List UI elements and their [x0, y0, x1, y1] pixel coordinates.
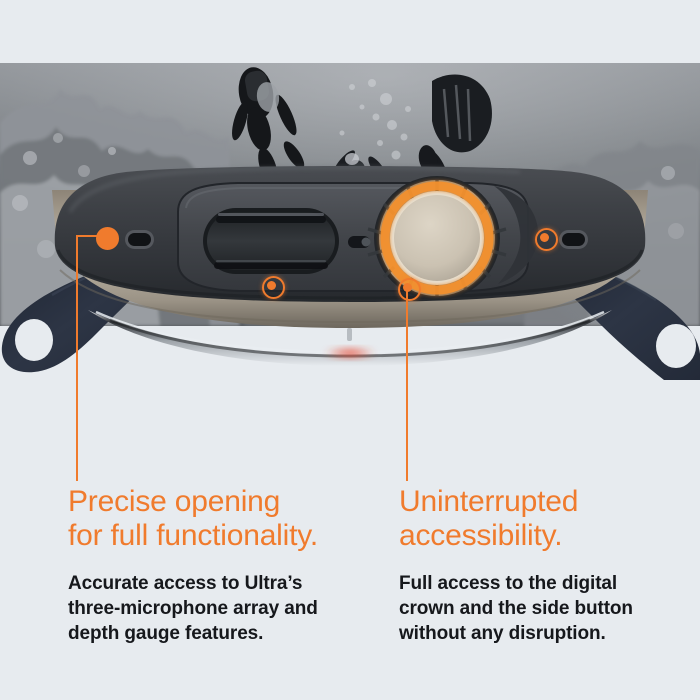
feature-headline-right: Uninterrupted accessibility. [399, 485, 689, 553]
smartwatch-ultra-case [0, 150, 700, 380]
product-feature-graphic: Precise opening for full functionality. … [0, 0, 700, 700]
callout-dot-crown-core [403, 283, 412, 292]
microphone-port-right [559, 230, 588, 249]
speaker-microphone-opening [203, 208, 339, 274]
leader-line-crown-vertical [406, 287, 408, 481]
callout-dot-side-button-core [540, 233, 549, 242]
feature-body-right: Full access to the digital crown and the… [399, 571, 689, 646]
feature-column-uninterrupted-accessibility: Uninterrupted accessibility. Full access… [399, 485, 689, 646]
feature-body-left: Accurate access to Ultra’s three-microph… [68, 571, 388, 646]
feature-headline-left: Precise opening for full functionality. [68, 485, 388, 553]
callout-dot-case-edge[interactable] [96, 227, 119, 250]
leader-line-left-vertical [76, 235, 78, 481]
feature-column-precise-opening: Precise opening for full functionality. … [68, 485, 388, 646]
inner-port [348, 236, 371, 248]
callout-dot-speaker-core [267, 281, 276, 290]
microphone-port-left [125, 230, 154, 249]
